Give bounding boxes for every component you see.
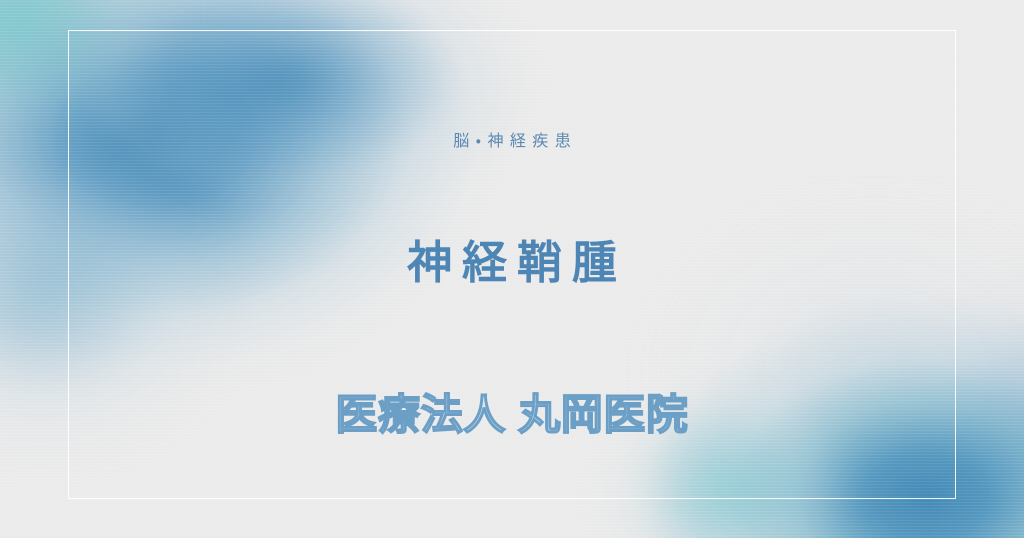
page-title: 神経鞘腫	[397, 235, 627, 291]
title-card-slide: 脳・神経疾患 神経鞘腫 医療法人 丸岡医院	[0, 0, 1024, 538]
clinic-logotype: 医療法人 丸岡医院	[335, 391, 688, 439]
category-eyebrow: 脳・神経疾患	[447, 131, 577, 153]
title-text-stack: 脳・神経疾患 神経鞘腫 医療法人 丸岡医院	[0, 0, 1024, 538]
